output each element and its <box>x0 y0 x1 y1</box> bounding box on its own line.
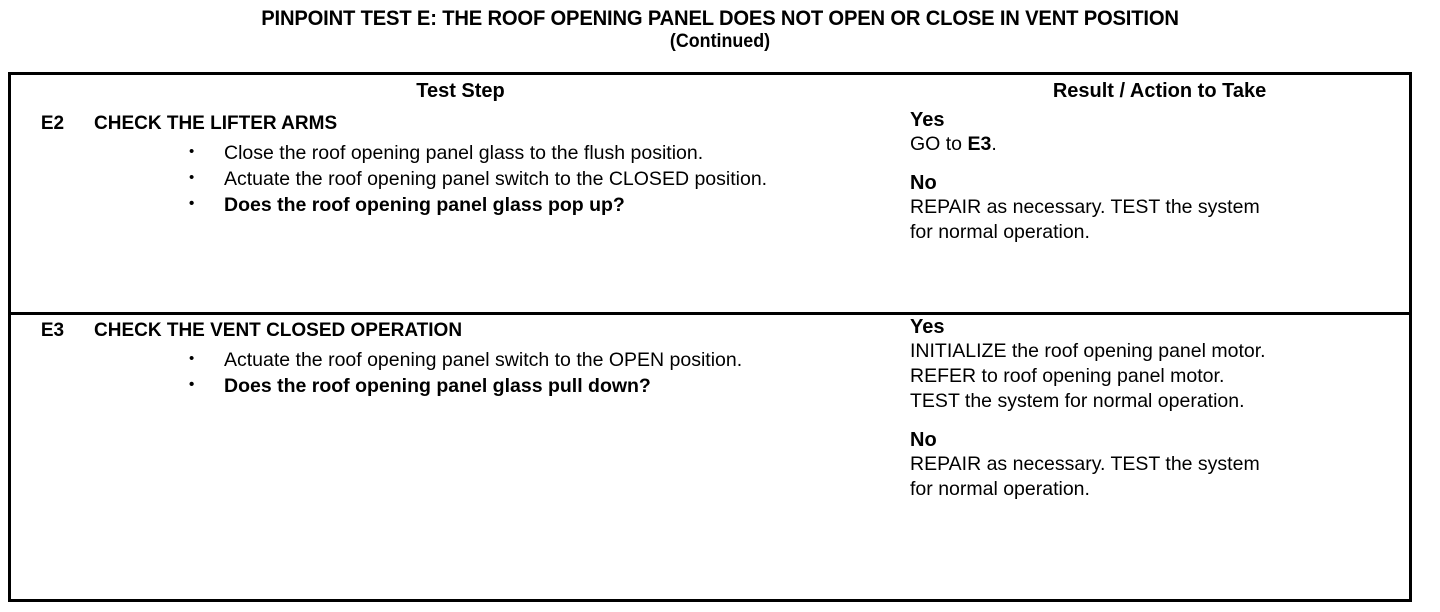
step-instructions-e2: Close the roof opening panel glass to th… <box>94 140 910 313</box>
instruction-item: Does the roof opening panel glass pull d… <box>189 373 910 399</box>
pinpoint-test-table: Test Step Result / Action to Take E2CHEC… <box>8 72 1412 602</box>
result-answer-label: Yes <box>910 108 1409 132</box>
table-header-row: Test Step Result / Action to Take <box>11 75 1409 108</box>
result-answer-label: Yes <box>910 315 1409 339</box>
step-title-row: E2CHECK THE LIFTER ARMSYesGO to E3.NoREP… <box>11 108 1409 140</box>
table-body: Test Step Result / Action to Take E2CHEC… <box>11 75 1409 599</box>
result-branch-yes: YesGO to E3. <box>910 108 1409 157</box>
instruction-list: Actuate the roof opening panel switch to… <box>94 347 910 399</box>
page-title-continued: (Continued) <box>43 31 1397 52</box>
step-title-row: E3CHECK THE VENT CLOSED OPERATIONYesINIT… <box>11 313 1409 347</box>
instruction-item: Close the roof opening panel glass to th… <box>189 140 910 166</box>
result-action-text-tail: . <box>991 133 996 155</box>
result-action-text: TEST the system for normal operation. <box>910 390 1245 412</box>
instruction-item: Does the roof opening panel glass pop up… <box>189 192 910 218</box>
result-action-text: REFER to roof opening panel motor. <box>910 365 1224 387</box>
result-answer-label: No <box>910 428 1409 452</box>
result-action-line: for normal operation. <box>910 220 1409 245</box>
result-action-line: REFER to roof opening panel motor. <box>910 364 1409 389</box>
result-action-line: for normal operation. <box>910 477 1409 502</box>
column-header-result-action: Result / Action to Take <box>910 75 1409 108</box>
result-action-text: for normal operation. <box>910 221 1090 243</box>
step-id-e2: E2 <box>11 108 94 140</box>
result-action-text: REPAIR as necessary. TEST the system <box>910 453 1260 475</box>
result-answer-label: No <box>910 171 1409 195</box>
step-id-spacer <box>11 347 94 599</box>
result-branch-no: NoREPAIR as necessary. TEST the systemfo… <box>910 171 1409 245</box>
step-id-spacer <box>11 140 94 313</box>
result-action-text: REPAIR as necessary. TEST the system <box>910 196 1260 218</box>
result-action-text: INITIALIZE the roof opening panel motor. <box>910 340 1266 362</box>
result-branch-no: NoREPAIR as necessary. TEST the systemfo… <box>910 428 1409 502</box>
result-action-text: for normal operation. <box>910 478 1090 500</box>
result-action-text: GO to <box>910 133 967 155</box>
step-title-e2: CHECK THE LIFTER ARMS <box>94 108 910 140</box>
result-action-line: REPAIR as necessary. TEST the system <box>910 195 1409 220</box>
instruction-list: Close the roof opening panel glass to th… <box>94 140 910 218</box>
result-action-line: GO to E3. <box>910 132 1409 157</box>
instruction-item: Actuate the roof opening panel switch to… <box>189 166 910 192</box>
document-title-block: PINPOINT TEST E: THE ROOF OPENING PANEL … <box>0 0 1440 52</box>
result-action-line: INITIALIZE the roof opening panel motor. <box>910 339 1409 364</box>
result-cell-e2: YesGO to E3.NoREPAIR as necessary. TEST … <box>910 108 1409 313</box>
diagnostic-table: Test Step Result / Action to Take E2CHEC… <box>11 75 1409 599</box>
step-instructions-e3: Actuate the roof opening panel switch to… <box>94 347 910 599</box>
instruction-item: Actuate the roof opening panel switch to… <box>189 347 910 373</box>
result-action-step-ref: E3 <box>967 133 991 155</box>
result-action-line: REPAIR as necessary. TEST the system <box>910 452 1409 477</box>
page-title: PINPOINT TEST E: THE ROOF OPENING PANEL … <box>43 6 1397 31</box>
result-branch-yes: YesINITIALIZE the roof opening panel mot… <box>910 315 1409 414</box>
result-cell-e3: YesINITIALIZE the roof opening panel mot… <box>910 313 1409 599</box>
step-title-e3: CHECK THE VENT CLOSED OPERATION <box>94 313 910 347</box>
step-id-e3: E3 <box>11 313 94 347</box>
column-header-test-step: Test Step <box>11 75 910 108</box>
result-action-line: TEST the system for normal operation. <box>910 389 1409 414</box>
